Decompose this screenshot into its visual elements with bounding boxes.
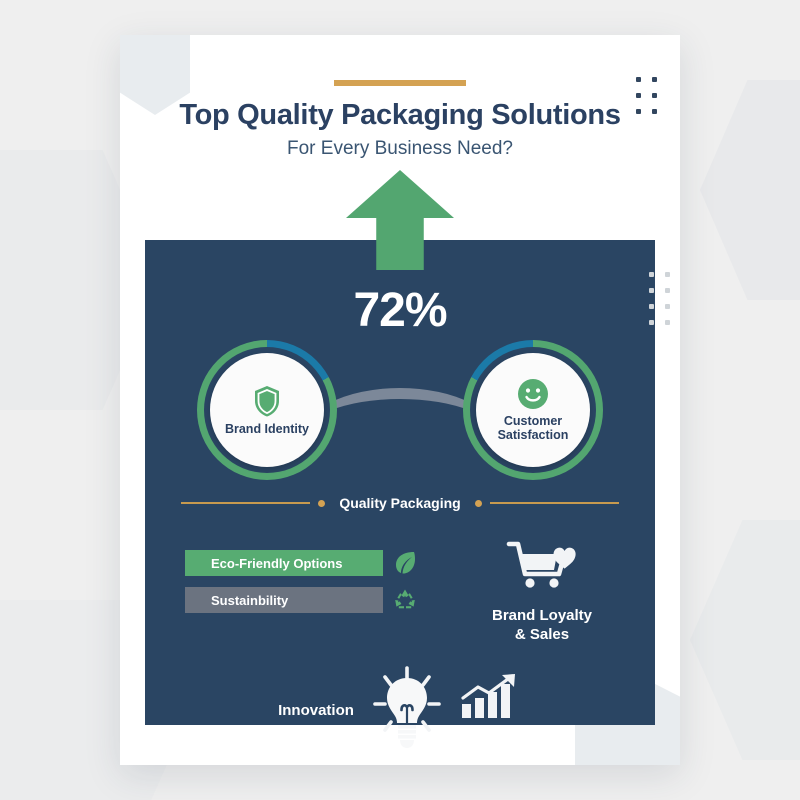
- growth-chart-icon: [460, 672, 522, 727]
- infographic-stage: Top Quality Packaging Solutions For Ever…: [0, 0, 800, 800]
- dot-grid-icon: [636, 77, 657, 114]
- accent-bar: [334, 80, 466, 86]
- divider-line-left: [181, 502, 310, 504]
- background-hexagon: [700, 80, 800, 300]
- node-pair: Brand Identity: [145, 340, 655, 480]
- bar-eco-friendly-options[interactable]: Eco-Friendly Options: [185, 550, 383, 576]
- progress-bar-list: Eco-Friendly Options Sustainbility: [185, 550, 417, 624]
- page-title: Top Quality Packaging Solutions: [120, 99, 680, 132]
- shopping-cart-heart-icon: [505, 581, 579, 598]
- shield-icon: [252, 384, 282, 418]
- percent-value: 72%: [145, 283, 655, 338]
- success-label: Success: [460, 731, 521, 748]
- node-label: Customer Satisfaction: [476, 414, 590, 443]
- divider-dot-left: [318, 500, 325, 507]
- node-disc: Brand Identity: [210, 353, 324, 467]
- background-hexagon: [690, 520, 800, 760]
- page-subtitle: For Every Business Need?: [120, 138, 680, 160]
- innovation-label: Innovation: [278, 702, 354, 719]
- statistics-panel: 72% Brand Identity: [145, 240, 655, 725]
- divider-line-right: [490, 502, 619, 504]
- node-brand-identity[interactable]: Brand Identity: [197, 340, 337, 480]
- brand-loyalty-label: Brand Loyalty & Sales: [467, 607, 617, 645]
- brand-loyalty-block: Brand Loyalty & Sales: [467, 538, 617, 645]
- divider-dot-right: [475, 500, 482, 507]
- node-disc: Customer Satisfaction: [476, 353, 590, 467]
- node-customer-satisfaction[interactable]: Customer Satisfaction: [463, 340, 603, 480]
- node-label: Brand Identity: [225, 422, 309, 436]
- bar-sustainability[interactable]: Sustainbility: [185, 587, 383, 613]
- progress-bar-row: Sustainbility: [185, 587, 417, 613]
- divider-label: Quality Packaging: [333, 495, 466, 511]
- bottom-row: Innovation: [145, 655, 655, 765]
- lightbulb-icon: [370, 666, 444, 755]
- smiley-face-icon: [517, 378, 549, 410]
- leaf-icon: [393, 550, 417, 576]
- recycle-icon: [393, 588, 417, 612]
- section-divider: Quality Packaging: [145, 492, 655, 514]
- infographic-card: Top Quality Packaging Solutions For Ever…: [120, 35, 680, 765]
- success-block: Success: [460, 672, 522, 748]
- progress-bar-row: Eco-Friendly Options: [185, 550, 417, 576]
